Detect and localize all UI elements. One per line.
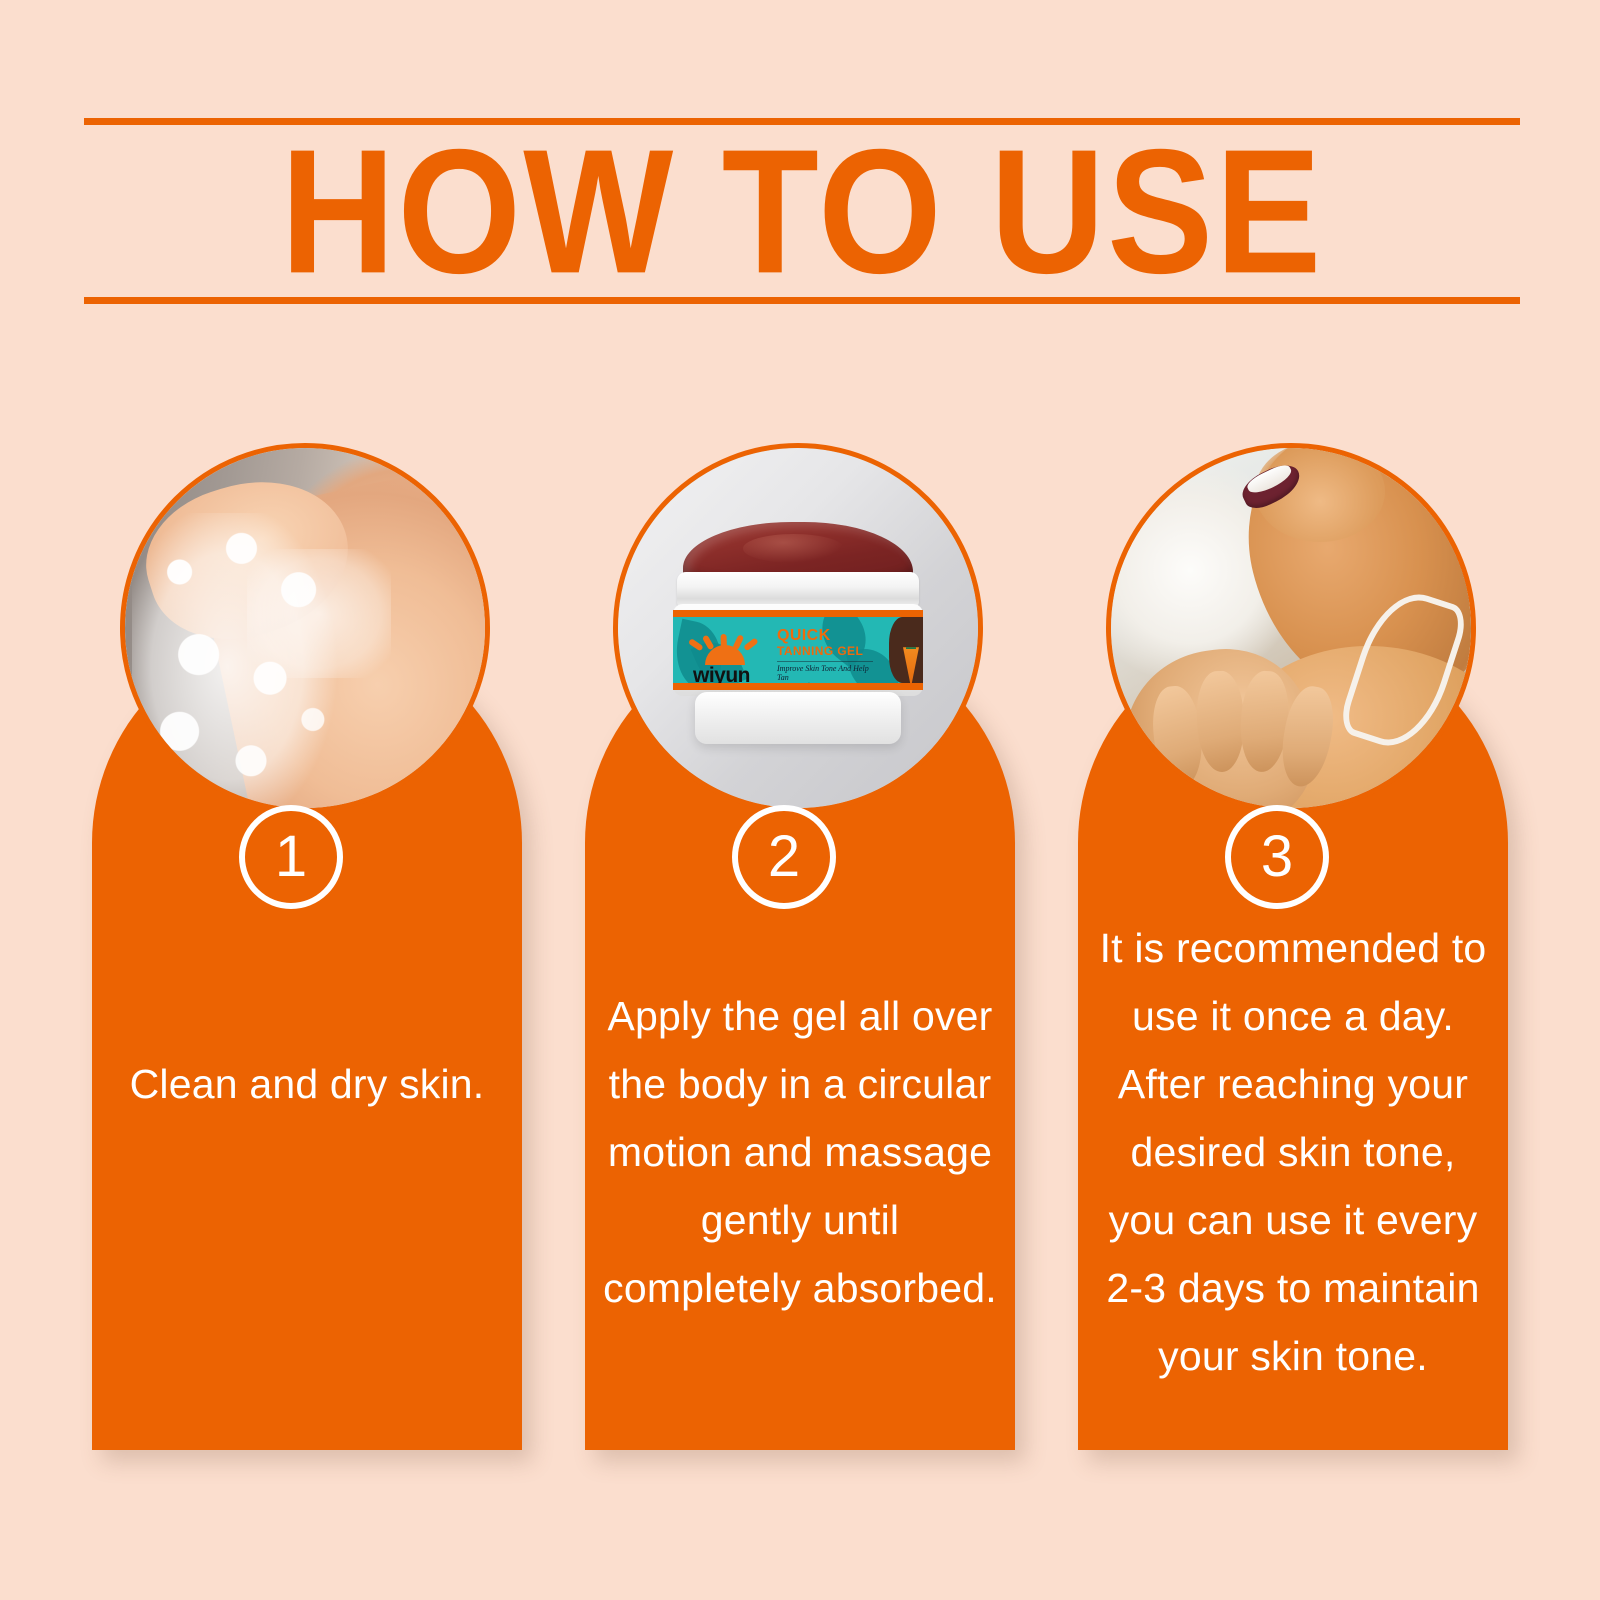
jar-base xyxy=(695,692,901,744)
step-text-1: Clean and dry skin. xyxy=(92,1050,522,1118)
step-image-2: wiyun QUICK TANNING GEL Improve Skin Ton… xyxy=(613,443,983,813)
product-name-line2: TANNING GEL xyxy=(777,645,863,658)
step-text-2: Apply the gel all over the body in a cir… xyxy=(585,982,1015,1322)
step-image-1-inner xyxy=(125,448,485,808)
steps-container: wiyun QUICK TANNING GEL Improve Skin Ton… xyxy=(0,0,1600,1600)
jar-label: wiyun QUICK TANNING GEL Improve Skin Ton… xyxy=(673,610,923,690)
step-number-badge-2: 2 xyxy=(732,805,836,909)
step-image-3-inner xyxy=(1111,448,1471,808)
step-text-3: It is recommended to use it once a day. … xyxy=(1078,914,1508,1390)
step-image-2-inner: wiyun QUICK TANNING GEL Improve Skin Ton… xyxy=(618,448,978,808)
product-net-weight: NET: 30G/1 OZ xyxy=(777,683,825,690)
jar-body: wiyun QUICK TANNING GEL Improve Skin Ton… xyxy=(673,604,923,696)
sun-icon xyxy=(695,631,755,665)
product-jar: wiyun QUICK TANNING GEL Improve Skin Ton… xyxy=(669,520,927,750)
foam-photo-lather-highlight xyxy=(247,549,391,679)
step-image-1 xyxy=(120,443,490,813)
step-number-badge-3: 3 xyxy=(1225,805,1329,909)
step-number-badge-1: 1 xyxy=(239,805,343,909)
sun-ray xyxy=(743,638,759,652)
step-image-3 xyxy=(1106,443,1476,813)
product-name: QUICK xyxy=(777,627,831,644)
product-brand: wiyun xyxy=(693,665,750,686)
product-tagline: Improve Skin Tone And Help Tan xyxy=(777,661,873,682)
